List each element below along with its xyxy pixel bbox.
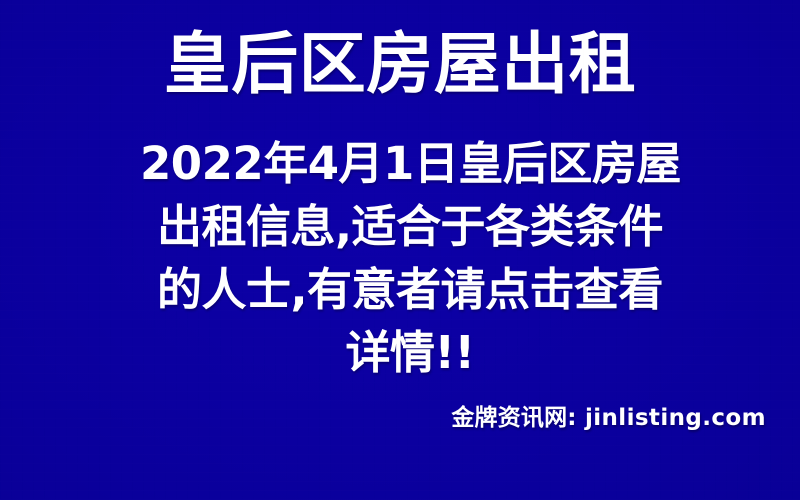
body-line-4: 详情!!: [140, 321, 680, 384]
body-line-1: 2022年4月1日皇后区房屋: [140, 132, 680, 195]
body-line-2: 出租信息,适合于各类条件: [140, 195, 680, 258]
page-title: 皇后区房屋出租: [0, 22, 800, 106]
footer-website-url[interactable]: jinlisting.com: [585, 405, 766, 431]
footer-attribution: 金牌资讯网: jinlisting.com: [451, 403, 766, 433]
body-text-block: 2022年4月1日皇后区房屋 出租信息,适合于各类条件 的人士,有意者请点击查看…: [140, 132, 680, 384]
poster-banner: 皇后区房屋出租 2022年4月1日皇后区房屋 出租信息,适合于各类条件 的人士,…: [0, 0, 800, 500]
body-line-3: 的人士,有意者请点击查看: [140, 258, 680, 321]
footer-brand-label: 金牌资讯网:: [451, 405, 576, 431]
